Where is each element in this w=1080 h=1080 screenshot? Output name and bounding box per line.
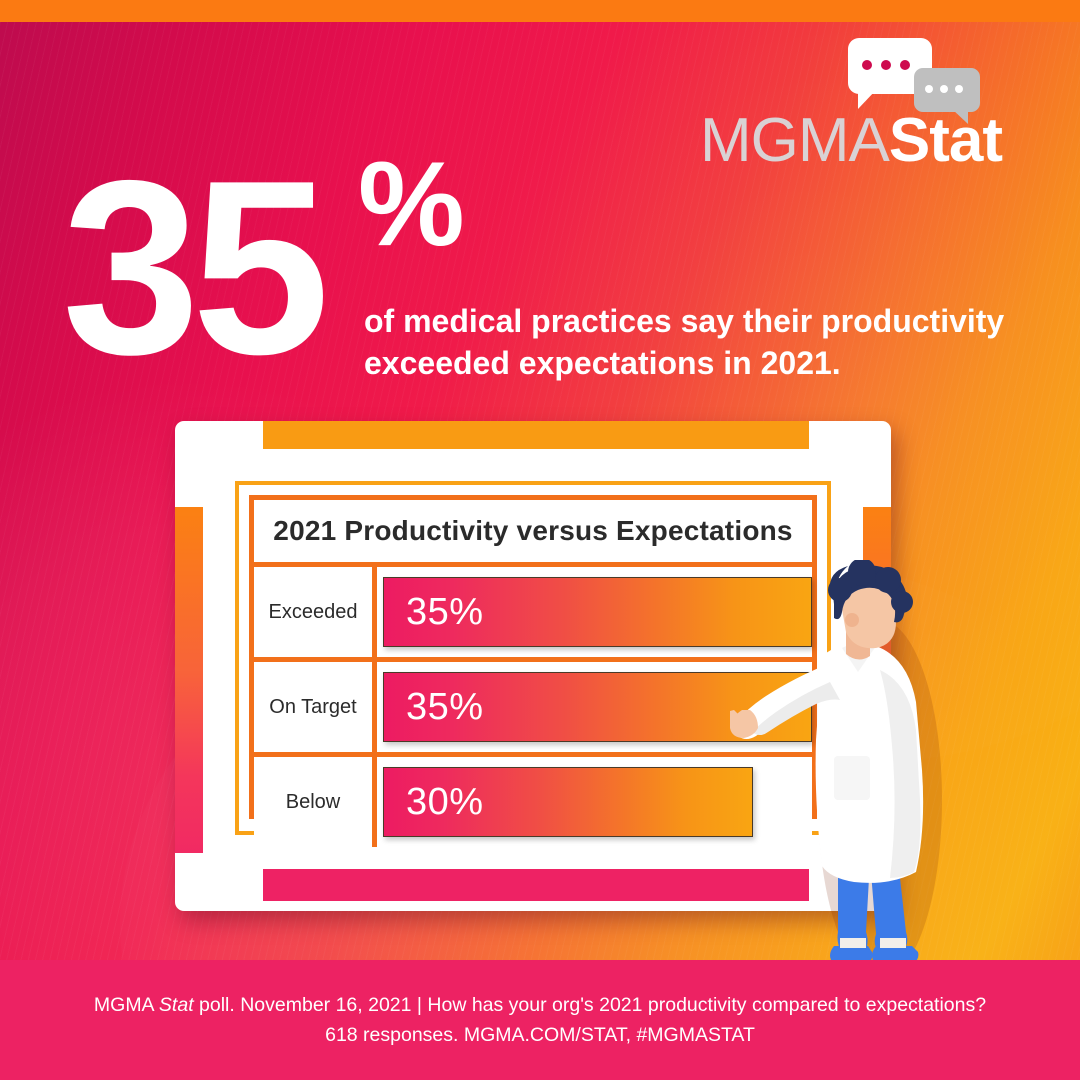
speech-bubble-icon: [842, 38, 1002, 116]
logo-stat-text: Stat: [889, 106, 1002, 175]
footer-prefix: MGMA: [94, 994, 159, 1016]
table-row: On Target 35%: [254, 662, 812, 757]
card-left-accent-bar: [175, 507, 203, 853]
footer-line-1: MGMA Stat poll. November 16, 2021 | How …: [94, 990, 986, 1020]
chart-rows: Exceeded 35% On Target 35%: [254, 567, 812, 847]
table-row: Exceeded 35%: [254, 567, 812, 662]
bar-value-exceeded: 35%: [384, 591, 484, 634]
bar-value-below: 30%: [384, 781, 484, 824]
footer-bar: MGMA Stat poll. November 16, 2021 | How …: [0, 960, 1080, 1080]
bar-below: 30%: [383, 767, 753, 837]
card-bottom-accent-bar: [263, 869, 809, 901]
stat-percent-symbol: %: [358, 144, 465, 264]
top-orange-stripe: [0, 0, 1080, 22]
stat-number-wrap: 35 %: [62, 160, 322, 375]
row-label-on-target: On Target: [254, 662, 377, 752]
row-label-below: Below: [254, 757, 377, 847]
speech-bubble-gray-icon: [914, 68, 980, 112]
mgma-stat-logo: MGMAStat: [700, 38, 1002, 172]
doctor-pointing-illustration: [730, 560, 950, 980]
bar-value-on-target: 35%: [384, 686, 484, 729]
headline-text: of medical practices say their productiv…: [364, 300, 1044, 384]
row-label-exceeded: Exceeded: [254, 567, 377, 657]
footer-line-2: 618 responses. MGMA.COM/STAT, #MGMASTAT: [325, 1020, 755, 1050]
chart-title: 2021 Productivity versus Expectations: [254, 500, 812, 567]
footer-stat-italic: Stat: [159, 994, 194, 1016]
stat-number: 35: [62, 160, 322, 375]
footer-rest: poll. November 16, 2021 | How has your o…: [194, 994, 986, 1016]
table-row: Below 30%: [254, 757, 812, 847]
headline-block: 35 % of medical practices say their prod…: [62, 160, 322, 375]
card-top-accent-bar: [263, 421, 809, 449]
logo-mgma-text: MGMA: [700, 106, 889, 175]
infographic-canvas: MGMAStat 35 % of medical practices say t…: [0, 0, 1080, 1080]
